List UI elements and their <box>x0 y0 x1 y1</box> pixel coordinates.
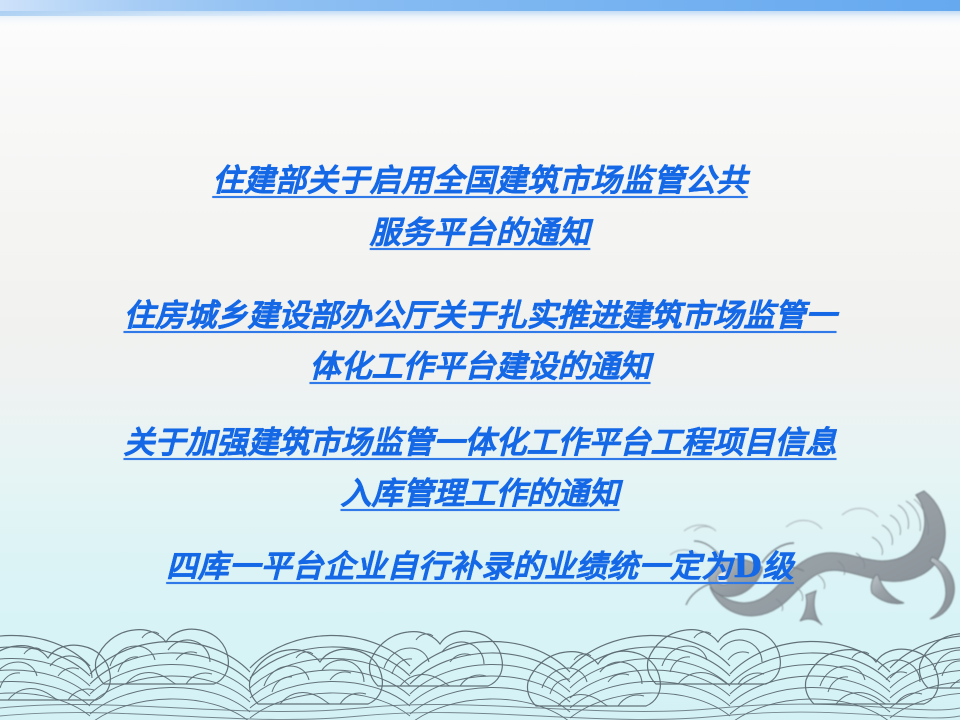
title-line-text[interactable]: 住房城乡建设部办公厅关于扎实推进建筑市场监管一 <box>124 298 837 334</box>
title-line[interactable]: 关于加强建筑市场监管一体化工作平台工程项目信息 <box>0 418 960 469</box>
title-block-notice-1[interactable]: 住建部关于启用全国建筑市场监管公共 服务平台的通知 <box>0 155 960 259</box>
title-line[interactable]: 住建部关于启用全国建筑市场监管公共 <box>0 155 960 207</box>
title-line[interactable]: 体化工作平台建设的通知 <box>0 342 960 393</box>
title-block-notice-2[interactable]: 住房城乡建设部办公厅关于扎实推进建筑市场监管一 体化工作平台建设的通知 <box>0 291 960 393</box>
title-line-text[interactable]: 入库管理工作的通知 <box>341 476 620 512</box>
presentation-slide: 住建部关于启用全国建筑市场监管公共 服务平台的通知 住房城乡建设部办公厅关于扎实… <box>0 0 960 720</box>
title-list: 住建部关于启用全国建筑市场监管公共 服务平台的通知 住房城乡建设部办公厅关于扎实… <box>0 0 960 720</box>
title-line[interactable]: 入库管理工作的通知 <box>0 469 960 520</box>
title-line-text[interactable]: 服务平台的通知 <box>370 215 591 251</box>
title-line-text-suffix[interactable]: 级 <box>762 549 794 585</box>
title-line-text[interactable]: 住建部关于启用全国建筑市场监管公共 <box>212 163 748 199</box>
title-line[interactable]: 住房城乡建设部办公厅关于扎实推进建筑市场监管一 <box>0 291 960 342</box>
title-line-text[interactable]: 体化工作平台建设的通知 <box>310 349 651 385</box>
title-block-notice-3[interactable]: 关于加强建筑市场监管一体化工作平台工程项目信息 入库管理工作的通知 <box>0 418 960 520</box>
title-line-text-prefix[interactable]: 四库一平台企业自行补录的业绩统一定为 <box>166 549 733 585</box>
title-line[interactable]: 服务平台的通知 <box>0 207 960 259</box>
title-block-notice-4[interactable]: 四库一平台企业自行补录的业绩统一定为D级 <box>0 541 960 592</box>
title-line-text[interactable]: 关于加强建筑市场监管一体化工作平台工程项目信息 <box>124 425 837 461</box>
title-line-grade-letter[interactable]: D <box>733 546 762 585</box>
title-line[interactable]: 四库一平台企业自行补录的业绩统一定为D级 <box>0 541 960 592</box>
